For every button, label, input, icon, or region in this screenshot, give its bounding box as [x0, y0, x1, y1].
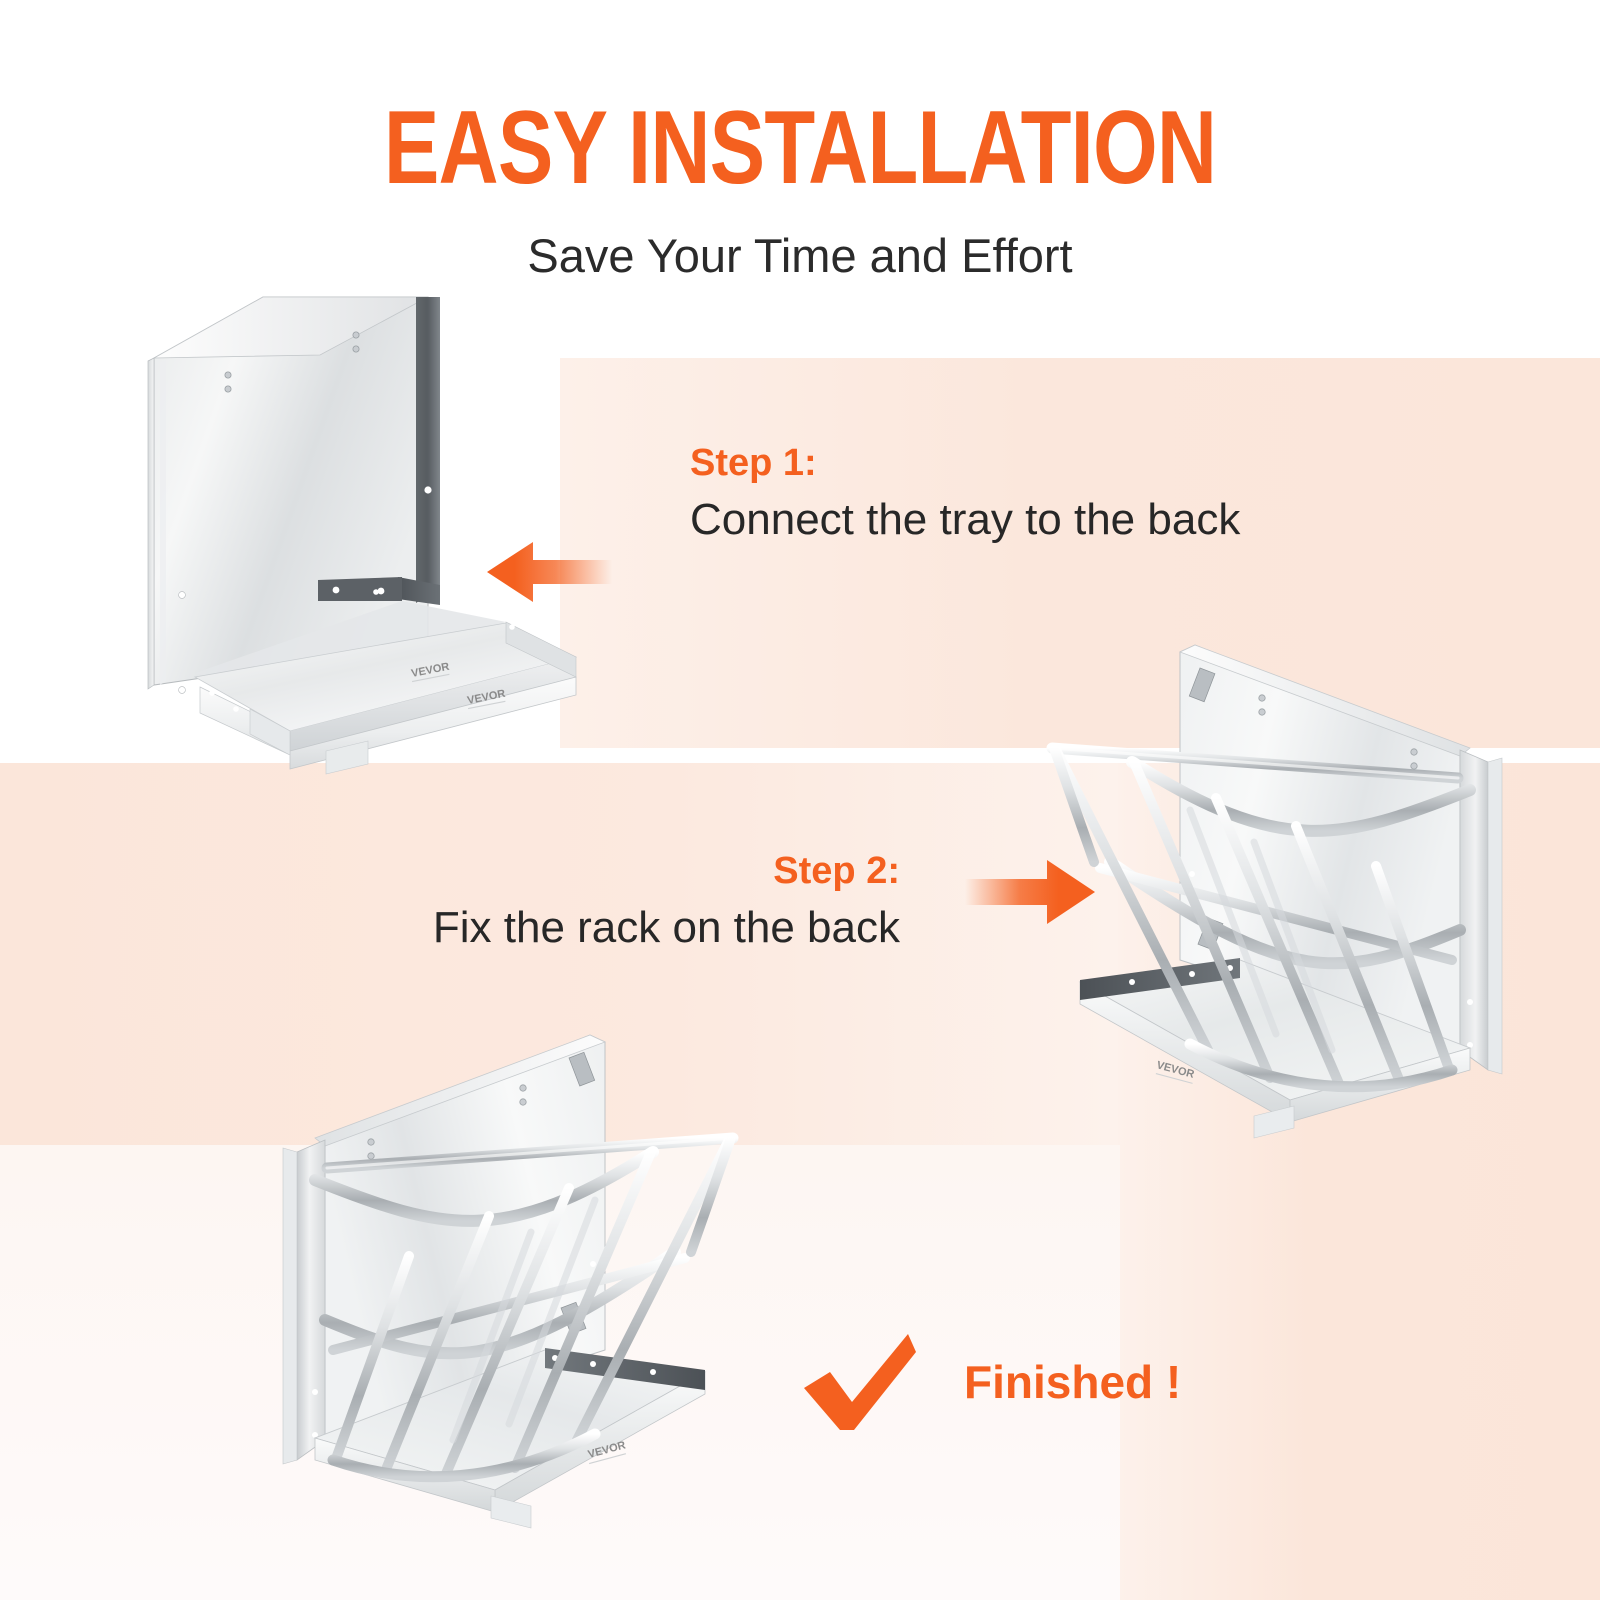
page-subtitle: Save Your Time and Effort — [0, 230, 1600, 282]
header: EASY INSTALLATION Save Your Time and Eff… — [0, 0, 1600, 282]
step-2-description: Fix the rack on the back — [430, 900, 900, 956]
step-2-label: Step 2: — [430, 848, 900, 894]
arrow-right-icon — [965, 852, 1095, 937]
check-mark-icon — [800, 1330, 920, 1434]
page-title: EASY INSTALLATION — [160, 96, 1440, 200]
arrow-left-icon — [487, 534, 612, 617]
steel-tray-and-back-panel-illustration: VEVOR VEVOR — [140, 285, 610, 775]
step-1-description: Connect the tray to the back — [690, 492, 1240, 548]
step-2-text-block: Step 2: Fix the rack on the back — [430, 848, 900, 956]
step-1-text-block: Step 1: Connect the tray to the back — [690, 440, 1240, 548]
finished-label: Finished ! — [964, 1356, 1181, 1408]
product-image-finished: VEVOR — [245, 1020, 745, 1565]
step-1-label: Step 1: — [690, 440, 1240, 486]
steel-rack-on-back-panel-illustration: VEVOR — [1040, 630, 1540, 1210]
finished-row: Finished ! — [800, 1330, 1181, 1434]
product-image-step-2: VEVOR — [1040, 630, 1540, 1215]
infographic-page: EASY INSTALLATION Save Your Time and Eff… — [0, 0, 1600, 1600]
assembled-hay-feeder-illustration: VEVOR — [245, 1020, 745, 1560]
product-image-step-1: VEVOR VEVOR — [140, 285, 610, 780]
